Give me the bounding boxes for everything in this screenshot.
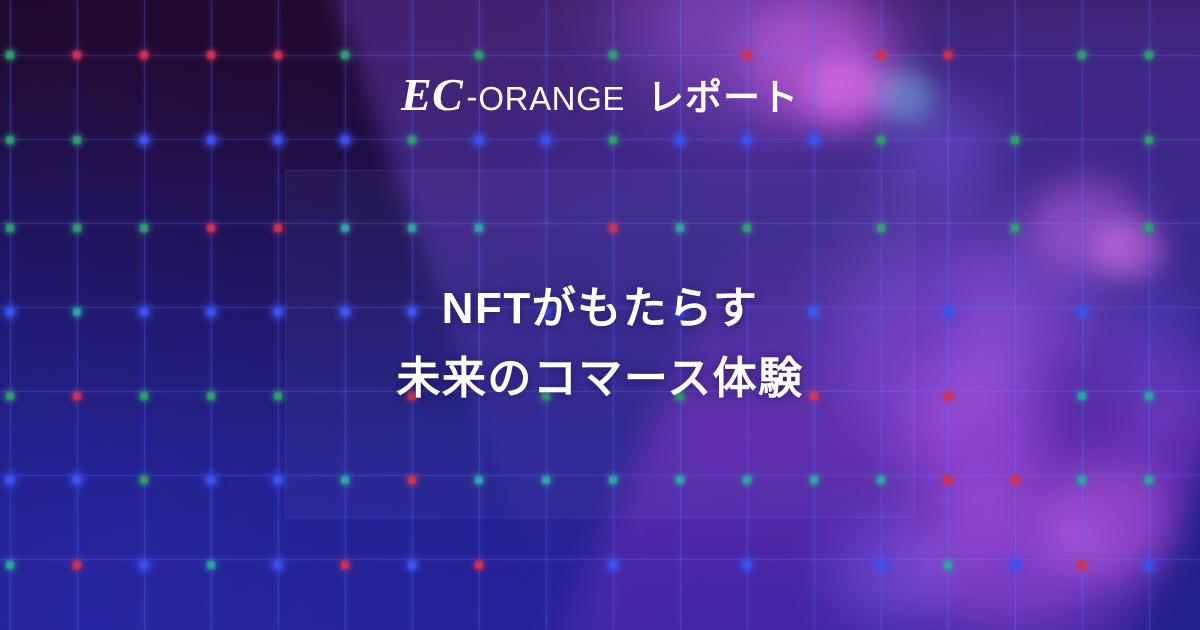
grid-node-green bbox=[6, 392, 14, 400]
grid-node-green bbox=[1078, 51, 1086, 59]
grid-node-green bbox=[140, 476, 148, 484]
grid-node-teal bbox=[6, 561, 14, 569]
grid-node-green bbox=[475, 51, 483, 59]
headline-block: NFTがもたらす 未来のコマース体験 bbox=[285, 170, 915, 518]
grid-node-green bbox=[1145, 136, 1153, 144]
grid-node-green bbox=[1145, 51, 1153, 59]
report-banner: EC - ORANGE レポート NFTがもたらす 未来のコマース体験 bbox=[0, 0, 1200, 630]
grid-node-green bbox=[207, 392, 215, 400]
headline-line-2: 未来のコマース体験 bbox=[396, 348, 803, 410]
grid-node-teal bbox=[1145, 392, 1153, 400]
grid-node-red bbox=[1011, 476, 1019, 484]
grid-node-blue bbox=[207, 308, 215, 316]
grid-node-red bbox=[274, 51, 282, 59]
grid-node-red bbox=[207, 51, 215, 59]
brand-mark-ec: EC bbox=[401, 72, 463, 118]
grid-node-blue bbox=[73, 476, 81, 484]
grid-node-teal bbox=[1078, 476, 1086, 484]
grid-node-green bbox=[877, 136, 885, 144]
grid-node-red bbox=[73, 51, 81, 59]
grid-node-green bbox=[140, 224, 148, 232]
grid-node-green bbox=[274, 392, 282, 400]
grid-node-blue bbox=[140, 561, 148, 569]
grid-node-red bbox=[944, 392, 952, 400]
grid-node-blue bbox=[408, 561, 416, 569]
grid-node-red bbox=[207, 224, 215, 232]
grid-node-blue bbox=[140, 308, 148, 316]
grid-node-teal bbox=[1078, 392, 1086, 400]
brand-logo: EC - ORANGE レポート bbox=[0, 72, 1200, 118]
grid-node-blue bbox=[274, 561, 282, 569]
grid-node-blue bbox=[743, 136, 751, 144]
grid-node-green bbox=[1011, 224, 1019, 232]
grid-node-red bbox=[73, 392, 81, 400]
grid-node-blue bbox=[743, 561, 751, 569]
grid-node-red bbox=[341, 561, 349, 569]
grid-node-red bbox=[877, 51, 885, 59]
grid-node-green bbox=[6, 224, 14, 232]
grid-node-blue bbox=[877, 561, 885, 569]
grid-node-red bbox=[274, 224, 282, 232]
grid-node-blue bbox=[609, 561, 617, 569]
grid-node-green bbox=[1011, 136, 1019, 144]
grid-node-blue bbox=[207, 136, 215, 144]
brand-suffix-orange: ORANGE bbox=[478, 82, 625, 115]
grid-node-teal bbox=[1145, 476, 1153, 484]
brand-dash: - bbox=[466, 80, 477, 113]
grid-node-teal bbox=[73, 308, 81, 316]
grid-node-red bbox=[944, 51, 952, 59]
grid-node-blue bbox=[542, 136, 550, 144]
grid-node-blue bbox=[6, 308, 14, 316]
grid-node-red bbox=[475, 561, 483, 569]
grid-node-blue bbox=[140, 136, 148, 144]
grid-node-blue bbox=[1145, 561, 1153, 569]
grid-node-green bbox=[140, 392, 148, 400]
headline-line-1: NFTがもたらす bbox=[442, 278, 759, 340]
grid-node-blue bbox=[810, 136, 818, 144]
grid-node-blue bbox=[6, 476, 14, 484]
grid-node-blue bbox=[475, 136, 483, 144]
grid-node-green bbox=[73, 224, 81, 232]
grid-node-blue bbox=[341, 136, 349, 144]
grid-node-green bbox=[408, 136, 416, 144]
grid-node-red bbox=[140, 51, 148, 59]
grid-node-red bbox=[1078, 561, 1086, 569]
grid-node-green bbox=[609, 51, 617, 59]
grid-node-blue bbox=[274, 136, 282, 144]
grid-node-blue bbox=[207, 476, 215, 484]
grid-node-blue bbox=[1011, 561, 1019, 569]
grid-node-teal bbox=[207, 561, 215, 569]
grid-node-blue bbox=[676, 136, 684, 144]
grid-node-green bbox=[73, 136, 81, 144]
grid-node-teal bbox=[944, 561, 952, 569]
brand-section-label: レポート bbox=[647, 79, 799, 116]
grid-node-green bbox=[6, 136, 14, 144]
grid-node-blue bbox=[1078, 308, 1086, 316]
grid-node-green bbox=[6, 51, 14, 59]
grid-node-blue bbox=[274, 476, 282, 484]
grid-node-red bbox=[944, 476, 952, 484]
grid-node-blue bbox=[944, 308, 952, 316]
grid-node-blue bbox=[274, 308, 282, 316]
grid-node-green bbox=[1145, 224, 1153, 232]
grid-node-green bbox=[341, 51, 349, 59]
grid-node-red bbox=[73, 561, 81, 569]
grid-node-green bbox=[609, 136, 617, 144]
grid-node-red bbox=[743, 51, 751, 59]
